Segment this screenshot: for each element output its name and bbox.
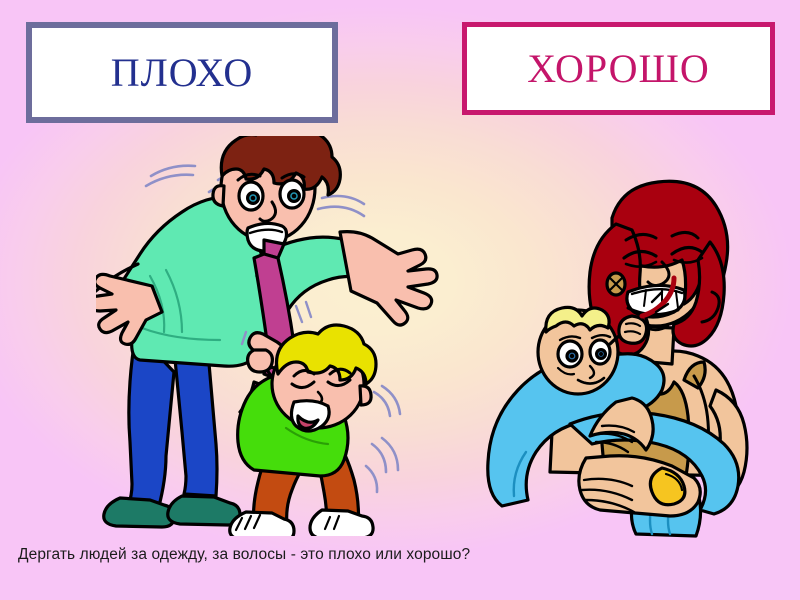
label-text-bad: ПЛОХО [111,53,254,93]
label-text-good: ХОРОШО [527,49,710,89]
slide-canvas: ПЛОХО ХОРОШО [0,0,800,600]
illustration-good-behavior [466,176,776,538]
label-box-good: ХОРОШО [462,22,775,115]
label-box-bad: ПЛОХО [26,22,338,123]
caption-text: Дергать людей за одежду, за волосы - это… [18,546,470,564]
illustration-bad-behavior [96,136,446,536]
